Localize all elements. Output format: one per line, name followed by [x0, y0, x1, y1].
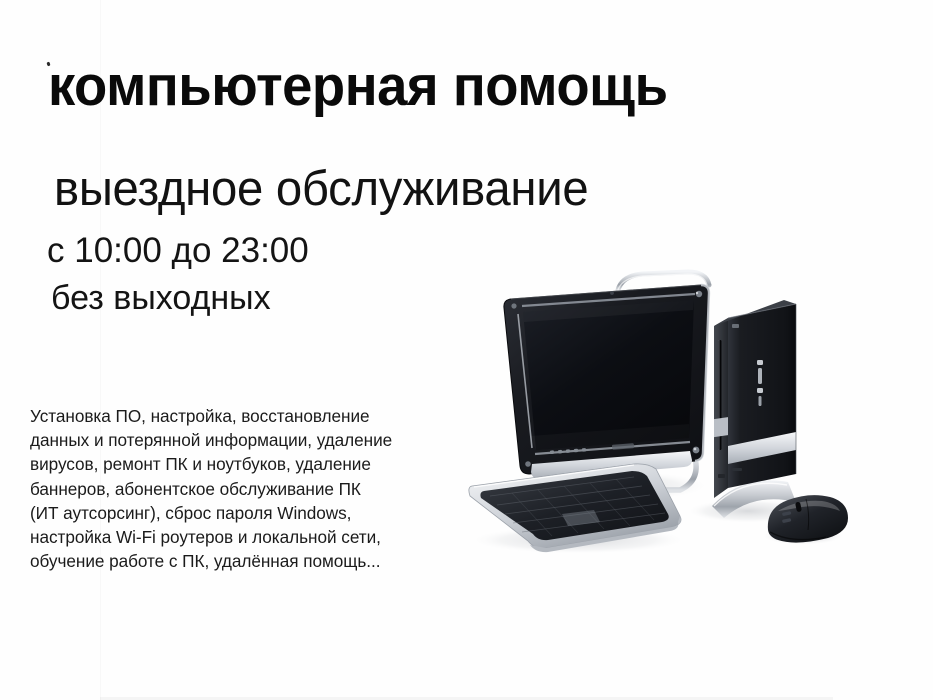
services-line: настройка Wi-Fi роутеров и локальной сет…	[30, 525, 482, 549]
days-off-text: без выходных	[51, 279, 271, 317]
services-line: данных и потерянной информации, удаление	[30, 428, 482, 452]
tower-side-silver	[714, 417, 728, 437]
working-hours-text: с 10:00 до 23:00	[47, 232, 309, 270]
tower-front-port	[718, 474, 725, 478]
bezel-screw	[693, 447, 700, 454]
services-line: Установка ПО, настройка, восстановление	[30, 404, 482, 428]
lcd-monitor	[504, 272, 709, 495]
webcam-dot	[610, 291, 614, 295]
bezel-screw	[525, 461, 531, 467]
advertisement-poster: компьютерная помощь выездное обслуживани…	[0, 0, 933, 700]
slim-tower-pc	[712, 300, 796, 518]
tower-front-port	[732, 468, 742, 471]
services-line: (ИТ аутсорсинг), сброс пароля Windows,	[30, 501, 482, 525]
computer-hardware-photo	[466, 268, 928, 580]
services-line: обучение работе с ПК, удалённая помощь..…	[30, 549, 482, 573]
page-title: компьютерная помощь	[48, 57, 668, 115]
services-line: вирусов, ремонт ПК и ноутбуков, удаление	[30, 452, 482, 476]
bezel-screw	[511, 303, 516, 308]
tower-badge	[732, 324, 739, 328]
services-description: Установка ПО, настройка, восстановление …	[30, 404, 482, 573]
subtitle-service-type: выездное обслуживание	[54, 163, 588, 215]
services-line: баннеров, абонентское обслуживание ПК	[30, 477, 482, 501]
